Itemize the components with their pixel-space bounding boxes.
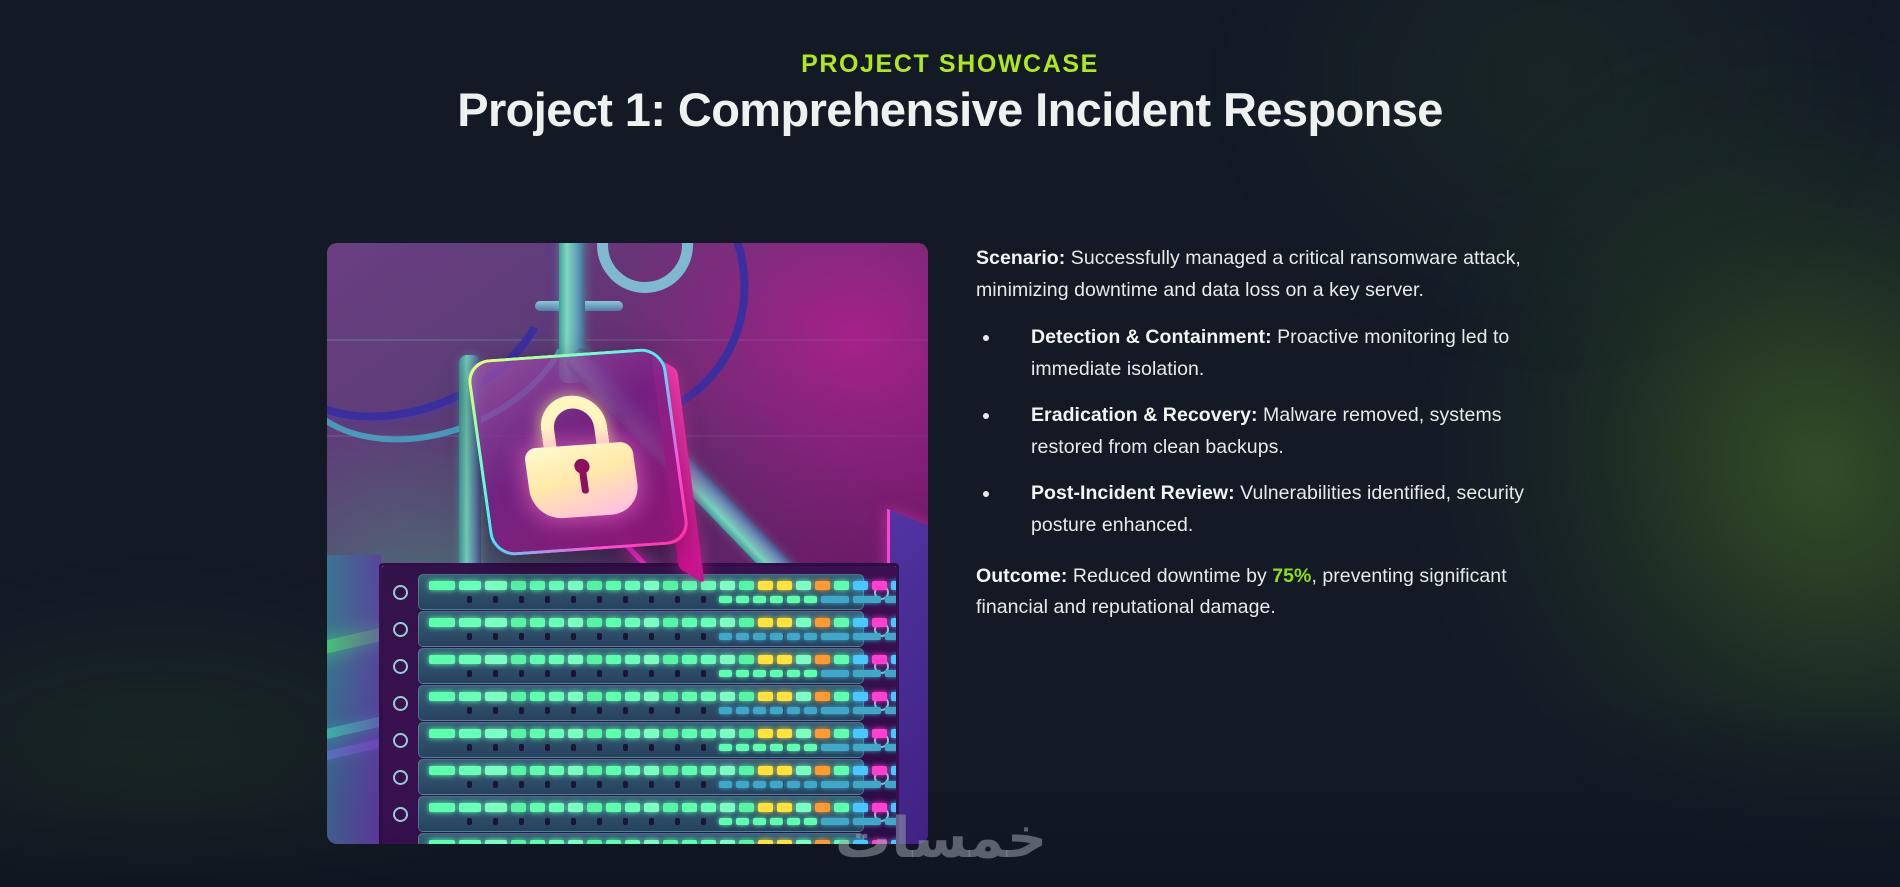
rack-vent-icon (571, 781, 576, 788)
rack-vent-icon (597, 781, 602, 788)
rack-led-icon (568, 655, 583, 664)
rack-led-icon (815, 581, 830, 590)
server-rack (379, 563, 899, 844)
rack-led-icon (853, 707, 881, 714)
rack-led-icon (511, 692, 526, 701)
rack-led-icon (821, 781, 849, 788)
rack-led-icon (885, 670, 899, 677)
rack-led-icon (853, 744, 881, 751)
outcome-label: Outcome: (976, 565, 1067, 587)
rack-vent-icon (571, 744, 576, 751)
rack-led-icon (625, 729, 640, 738)
rack-led-icon (719, 670, 732, 677)
rack-led-icon (777, 803, 792, 812)
rack-led-icon (429, 655, 455, 664)
rack-led-icon (701, 692, 716, 701)
showcase-content: Scenario: Successfully managed a critica… (327, 243, 1573, 844)
rack-vent-icon (675, 781, 680, 788)
rack-led-icon (644, 655, 659, 664)
rack-vent-icon (493, 781, 498, 788)
rack-vent-icon (623, 818, 628, 825)
rack-vent-icon (623, 781, 628, 788)
rack-led-icon (891, 618, 899, 627)
rack-led-icon (787, 744, 800, 751)
rack-led-icon (853, 818, 881, 825)
rack-led-icon (682, 803, 697, 812)
rack-led-icon (758, 692, 773, 701)
rack-led-icon (530, 581, 545, 590)
rack-led-icon (804, 781, 817, 788)
rack-led-icon (549, 766, 564, 775)
rack-led-icon (549, 840, 564, 844)
rack-led-icon (606, 766, 621, 775)
list-item-label: Eradication & Recovery: (1031, 404, 1258, 426)
rack-led-icon (720, 840, 735, 844)
rack-vent-icon (675, 744, 680, 751)
rack-led-icon (758, 840, 773, 844)
section-eyebrow: PROJECT SHOWCASE (0, 50, 1900, 79)
list-item: Post-Incident Review: Vulnerabilities id… (976, 478, 1573, 541)
rack-led-icon (644, 840, 659, 844)
rack-led-icon (719, 818, 732, 825)
rack-screw-icon (393, 807, 408, 822)
rack-led-icon (885, 744, 899, 751)
rack-vent-icon (675, 596, 680, 603)
project-image (327, 243, 928, 844)
rack-led-icon (511, 840, 526, 844)
rack-vent-icon (701, 781, 706, 788)
rack-led-icon (485, 655, 507, 664)
rack-led-icon (804, 744, 817, 751)
server-rack-row (418, 574, 864, 610)
rack-vent-icon (493, 670, 498, 677)
rack-led-icon (644, 618, 659, 627)
rack-led-icon (720, 729, 735, 738)
rack-led-icon (485, 581, 507, 590)
rack-led-icon (753, 707, 766, 714)
rack-led-icon (787, 596, 800, 603)
project-description: Scenario: Successfully managed a critica… (976, 243, 1573, 624)
rack-led-icon (821, 744, 849, 751)
rack-led-icon (429, 692, 455, 701)
rack-led-icon (485, 729, 507, 738)
rack-led-icon (625, 803, 640, 812)
rack-led-icon (815, 618, 830, 627)
rack-led-icon (804, 670, 817, 677)
rack-led-icon (821, 818, 849, 825)
rack-led-icon (485, 840, 507, 844)
rack-led-icon (587, 655, 602, 664)
rack-led-icon (606, 581, 621, 590)
rack-vent-icon (675, 633, 680, 640)
rack-vent-icon (545, 744, 550, 751)
rack-led-icon (853, 596, 881, 603)
rack-led-icon (606, 729, 621, 738)
rack-led-icon (753, 670, 766, 677)
rack-vent-icon (675, 707, 680, 714)
rack-vent-icon (545, 633, 550, 640)
rack-led-icon (753, 633, 766, 640)
rack-vent-icon (571, 596, 576, 603)
illustration (327, 243, 928, 844)
rack-vent-icon (519, 744, 524, 751)
rack-led-icon (872, 618, 887, 627)
rack-led-icon (853, 766, 868, 775)
rack-led-icon (804, 633, 817, 640)
server-rack-row (418, 722, 864, 758)
page-title: Project 1: Comprehensive Incident Respon… (390, 84, 1510, 136)
rack-vent-icon (519, 633, 524, 640)
rack-led-icon (853, 655, 868, 664)
rack-led-icon (770, 633, 783, 640)
rack-led-icon (568, 766, 583, 775)
rack-led-icon (834, 729, 849, 738)
rack-led-icon (804, 707, 817, 714)
rack-vent-icon (623, 707, 628, 714)
rack-led-icon (701, 729, 716, 738)
rack-led-icon (853, 618, 868, 627)
rack-screw-icon (393, 622, 408, 637)
rack-led-icon (885, 818, 899, 825)
rack-led-icon (587, 840, 602, 844)
rack-led-icon (485, 618, 507, 627)
outcome-paragraph: Outcome: Reduced downtime by 75%, preven… (976, 561, 1573, 624)
server-rack-left-column (327, 555, 381, 844)
rack-vent-icon (519, 596, 524, 603)
rack-led-icon (739, 840, 754, 844)
rack-led-icon (796, 766, 811, 775)
rack-led-icon (429, 803, 455, 812)
rack-led-icon (701, 803, 716, 812)
rack-vent-icon (597, 596, 602, 603)
rack-led-icon (834, 840, 849, 844)
rack-led-icon (682, 729, 697, 738)
rack-led-icon (891, 692, 899, 701)
rack-led-icon (485, 692, 507, 701)
rack-led-icon (739, 729, 754, 738)
rack-led-icon (625, 618, 640, 627)
rack-led-icon (663, 655, 678, 664)
rack-led-icon (568, 803, 583, 812)
rack-led-icon (568, 729, 583, 738)
rack-led-icon (530, 766, 545, 775)
rack-vent-icon (571, 818, 576, 825)
rack-led-icon (891, 803, 899, 812)
rack-led-icon (549, 729, 564, 738)
rack-vent-icon (649, 818, 654, 825)
rack-led-icon (821, 707, 849, 714)
rack-vent-icon (649, 633, 654, 640)
rack-led-icon (770, 781, 783, 788)
server-rack-row (418, 833, 864, 844)
rack-led-icon (549, 618, 564, 627)
rack-led-icon (511, 581, 526, 590)
rack-led-icon (796, 655, 811, 664)
rack-vent-icon (597, 707, 602, 714)
rack-led-icon (770, 670, 783, 677)
rack-vent-icon (493, 744, 498, 751)
rack-led-icon (459, 655, 481, 664)
rack-led-icon (739, 655, 754, 664)
rack-led-icon (872, 729, 887, 738)
rack-screw-icon (393, 659, 408, 674)
rack-led-icon (770, 707, 783, 714)
rack-led-icon (663, 581, 678, 590)
rack-led-icon (853, 670, 881, 677)
rack-led-icon (549, 803, 564, 812)
rack-vent-icon (623, 670, 628, 677)
rack-led-icon (736, 781, 749, 788)
scenario-label: Scenario: (976, 247, 1065, 269)
rack-led-icon (549, 581, 564, 590)
rack-led-icon (821, 596, 849, 603)
rack-led-icon (663, 618, 678, 627)
project-phase-list: Detection & Containment: Proactive monit… (976, 322, 1573, 541)
rack-led-icon (736, 596, 749, 603)
rack-vent-icon (701, 707, 706, 714)
rack-led-icon (720, 692, 735, 701)
rack-led-icon (891, 840, 899, 844)
rack-vent-icon (597, 633, 602, 640)
rack-led-icon (682, 766, 697, 775)
rack-led-icon (853, 803, 868, 812)
rack-led-icon (549, 655, 564, 664)
server-rack-row (418, 685, 864, 721)
rack-led-icon (853, 581, 868, 590)
rack-led-icon (587, 692, 602, 701)
rack-led-icon (587, 803, 602, 812)
rack-vent-icon (493, 707, 498, 714)
rack-led-icon (872, 803, 887, 812)
rack-led-icon (787, 818, 800, 825)
rack-vent-icon (675, 818, 680, 825)
rack-led-icon (787, 670, 800, 677)
rack-screw-icon (393, 696, 408, 711)
rack-led-icon (625, 655, 640, 664)
rack-led-icon (568, 581, 583, 590)
rack-led-icon (429, 766, 455, 775)
scenario-paragraph: Scenario: Successfully managed a critica… (976, 243, 1573, 306)
rack-vent-icon (545, 670, 550, 677)
rack-led-icon (753, 596, 766, 603)
rack-led-icon (644, 581, 659, 590)
rack-led-icon (720, 803, 735, 812)
rack-led-icon (530, 692, 545, 701)
rack-led-icon (719, 707, 732, 714)
rack-led-icon (568, 840, 583, 844)
rack-led-icon (777, 655, 792, 664)
rack-vent-icon (467, 818, 472, 825)
rack-led-icon (796, 618, 811, 627)
rack-vent-icon (545, 707, 550, 714)
rack-led-icon (429, 840, 455, 844)
outcome-text-pre: Reduced downtime by (1067, 565, 1272, 587)
rack-led-icon (758, 803, 773, 812)
rack-led-icon (758, 581, 773, 590)
rack-led-icon (429, 729, 455, 738)
rack-vent-icon (493, 596, 498, 603)
rack-led-icon (459, 766, 481, 775)
rack-led-icon (804, 818, 817, 825)
rack-led-icon (758, 729, 773, 738)
rack-led-icon (644, 729, 659, 738)
rack-vent-icon (493, 818, 498, 825)
rack-led-icon (459, 581, 481, 590)
rack-led-icon (739, 803, 754, 812)
rack-led-icon (777, 581, 792, 590)
rack-led-icon (429, 618, 455, 627)
rack-led-icon (758, 618, 773, 627)
rack-led-icon (753, 818, 766, 825)
rack-vent-icon (493, 633, 498, 640)
rack-led-icon (758, 766, 773, 775)
rack-led-icon (511, 803, 526, 812)
rack-led-icon (663, 692, 678, 701)
rack-screw-icon (393, 770, 408, 785)
rack-led-icon (770, 744, 783, 751)
rack-led-icon (511, 618, 526, 627)
rack-led-icon (739, 692, 754, 701)
rack-vent-icon (571, 670, 576, 677)
list-item-label: Post-Incident Review: (1031, 482, 1235, 504)
rack-led-icon (663, 803, 678, 812)
list-item: Detection & Containment: Proactive monit… (976, 322, 1573, 385)
rack-vent-icon (571, 707, 576, 714)
rack-vent-icon (519, 781, 524, 788)
server-rack-row (418, 759, 864, 795)
rack-led-icon (587, 729, 602, 738)
rack-led-icon (787, 633, 800, 640)
rack-led-icon (587, 766, 602, 775)
rack-vent-icon (467, 707, 472, 714)
rack-led-icon (606, 618, 621, 627)
rack-led-icon (739, 581, 754, 590)
rack-led-icon (821, 670, 849, 677)
rack-led-icon (815, 729, 830, 738)
rack-led-icon (736, 744, 749, 751)
rack-led-icon (625, 766, 640, 775)
rack-led-icon (885, 633, 899, 640)
rack-led-icon (853, 729, 868, 738)
rack-led-icon (872, 581, 887, 590)
rack-led-icon (530, 618, 545, 627)
rack-led-icon (719, 596, 732, 603)
rack-led-icon (530, 803, 545, 812)
rack-led-icon (682, 581, 697, 590)
rack-led-icon (459, 840, 481, 844)
rack-led-icon (872, 766, 887, 775)
rack-led-icon (682, 618, 697, 627)
rack-led-icon (568, 692, 583, 701)
rack-led-icon (606, 692, 621, 701)
rack-led-icon (625, 581, 640, 590)
rack-led-icon (885, 707, 899, 714)
rack-vent-icon (649, 744, 654, 751)
rack-led-icon (815, 766, 830, 775)
rack-led-icon (720, 655, 735, 664)
rack-led-icon (701, 655, 716, 664)
rack-led-icon (429, 581, 455, 590)
rack-vent-icon (467, 781, 472, 788)
server-rack-row (418, 611, 864, 647)
padlock-body-icon (523, 441, 641, 520)
rack-vent-icon (545, 818, 550, 825)
rack-led-icon (530, 840, 545, 844)
rack-led-icon (777, 729, 792, 738)
rack-led-icon (891, 581, 899, 590)
list-item: Eradication & Recovery: Malware removed,… (976, 400, 1573, 463)
rack-led-icon (549, 692, 564, 701)
rack-led-icon (606, 655, 621, 664)
rack-vent-icon (597, 744, 602, 751)
rack-vent-icon (701, 633, 706, 640)
rack-vent-icon (519, 707, 524, 714)
rack-led-icon (753, 781, 766, 788)
rack-led-icon (720, 581, 735, 590)
rack-led-icon (753, 744, 766, 751)
rack-led-icon (663, 729, 678, 738)
rack-led-icon (853, 633, 881, 640)
rack-vent-icon (545, 781, 550, 788)
rack-led-icon (853, 840, 868, 844)
rack-led-icon (459, 803, 481, 812)
list-item-label: Detection & Containment: (1031, 326, 1272, 348)
rack-led-icon (720, 618, 735, 627)
rack-led-icon (530, 655, 545, 664)
rack-vent-icon (467, 596, 472, 603)
rack-led-icon (459, 618, 481, 627)
rack-vent-icon (545, 596, 550, 603)
rack-led-icon (796, 803, 811, 812)
rack-led-icon (736, 670, 749, 677)
rack-led-icon (511, 766, 526, 775)
rack-led-icon (796, 729, 811, 738)
rack-led-icon (587, 581, 602, 590)
rack-led-icon (777, 840, 792, 844)
rack-vent-icon (571, 633, 576, 640)
padlock-icon (515, 392, 644, 521)
rack-led-icon (719, 633, 732, 640)
rack-led-icon (719, 744, 732, 751)
rack-led-icon (796, 581, 811, 590)
rack-led-icon (485, 803, 507, 812)
rack-screw-icon (393, 733, 408, 748)
rack-vent-icon (623, 596, 628, 603)
rack-led-icon (644, 766, 659, 775)
rack-led-icon (796, 692, 811, 701)
rack-vent-icon (701, 818, 706, 825)
rack-led-icon (834, 766, 849, 775)
rack-led-icon (834, 581, 849, 590)
rack-led-icon (606, 840, 621, 844)
rack-led-icon (587, 618, 602, 627)
rack-vent-icon (623, 633, 628, 640)
rack-led-icon (606, 803, 621, 812)
rack-led-icon (739, 766, 754, 775)
rack-led-icon (834, 692, 849, 701)
rack-led-icon (891, 766, 899, 775)
rack-led-icon (853, 781, 881, 788)
rack-led-icon (834, 655, 849, 664)
rack-led-icon (701, 618, 716, 627)
rack-vent-icon (467, 744, 472, 751)
project-showcase-page: PROJECT SHOWCASE Project 1: Comprehensiv… (0, 0, 1900, 887)
rack-led-icon (485, 766, 507, 775)
rack-led-icon (796, 840, 811, 844)
rack-led-icon (644, 692, 659, 701)
rack-led-icon (815, 692, 830, 701)
rack-led-icon (530, 729, 545, 738)
